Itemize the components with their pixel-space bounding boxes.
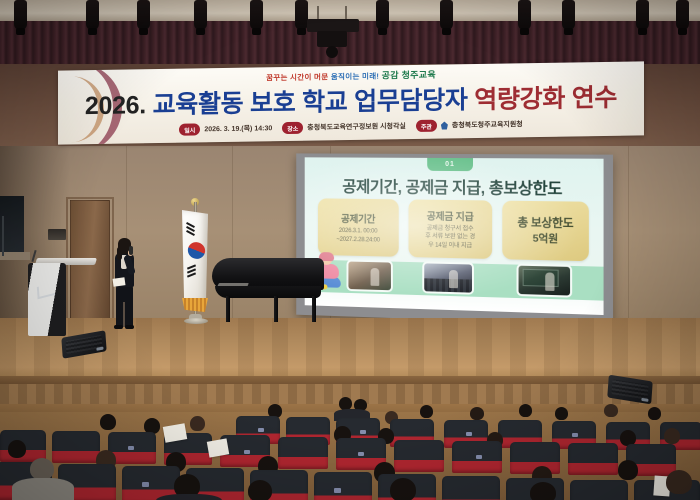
slide-card-group: 공제기간 2026.3.1. 00:00 ~2027.2.28.24:00 공제…	[318, 198, 589, 261]
ceiling-light-icon	[676, 0, 689, 30]
banner-meta-location: 장소 충청북도교육연구정보원 시청각실	[282, 120, 406, 134]
banner-meta-datetime: 일시 2026. 3. 19.(목) 14:30	[179, 122, 272, 135]
event-banner: 꿈꾸는 시간이 머문 움직이는 미래! 공감 청주교육 2026. 교육활동 보…	[58, 61, 644, 144]
slide-section-badge: 01	[427, 158, 473, 171]
lectern-logo-icon	[37, 283, 55, 300]
presenter	[112, 238, 138, 332]
card-body-line: ~2027.2.28.24:00	[336, 235, 379, 244]
ceiling-light-icon	[376, 0, 389, 30]
window-sill	[0, 252, 30, 260]
meta-chip-label: 주관	[416, 120, 437, 132]
wall-control-panel[interactable]	[48, 229, 66, 240]
banner-title-year: 2026.	[85, 91, 146, 120]
ceiling-light-icon	[562, 0, 575, 30]
lectern	[28, 258, 72, 338]
meta-value: 2026. 3. 19.(목) 14:30	[204, 123, 272, 134]
ceiling-light-icon	[440, 0, 453, 30]
banner-meta-organizer: 주관 충청북도청주교육지원청	[416, 118, 523, 132]
projection-screen: 01 공제기간, 공제금 지급, 총보상한도 공제기간 2026.3.1. 00…	[296, 153, 613, 325]
ceiling-light-icon	[250, 0, 263, 30]
korean-national-flag	[176, 198, 216, 332]
slide-photo-lecture-hall	[422, 261, 474, 294]
ceiling-light-icon	[86, 0, 99, 30]
card-heading: 공제기간	[341, 211, 375, 226]
control-window	[0, 196, 24, 258]
slogan-part1: 꿈꾸는 시간이 머문	[266, 72, 328, 82]
card-body-line: 5억원	[533, 232, 558, 247]
slide-photo-chalkboard	[517, 264, 573, 298]
presentation-slide: 01 공제기간, 공제금 지급, 총보상한도 공제기간 2026.3.1. 00…	[305, 157, 604, 315]
ceiling-projector-speaker-unit	[305, 6, 361, 58]
handout-paper	[207, 438, 229, 457]
meta-value: 충청북도청주교육지원청	[452, 119, 523, 130]
lectern-body	[28, 263, 66, 336]
mic-stand	[2, 216, 4, 256]
banner-title-main: 교육활동 보호 학교 업무담당자	[153, 86, 468, 119]
slide-title: 공제기간, 공제금 지급, 총보상한도	[305, 173, 604, 200]
slide-card-limit: 총 보상한도 5억원	[502, 201, 589, 262]
card-body-line: 우 14일 이내 지급	[428, 241, 472, 250]
card-heading: 총 보상한도	[517, 214, 573, 231]
card-heading: 공제금 지급	[427, 208, 474, 224]
ceiling-light-icon	[137, 0, 150, 30]
ceiling-light-icon	[194, 0, 207, 30]
grand-piano	[212, 256, 324, 328]
auditorium-photo: 꿈꾸는 시간이 머문 움직이는 미래! 공감 청주교육 2026. 교육활동 보…	[0, 0, 700, 500]
ceiling-light-icon	[636, 0, 649, 30]
meta-value: 충청북도교육연구정보원 시청각실	[307, 121, 406, 133]
slide-photo-classroom	[347, 260, 393, 293]
meta-chip-label: 장소	[282, 122, 303, 134]
slogan-part2: 움직이는 미래!	[331, 72, 379, 82]
handheld-microphone-icon	[129, 246, 133, 255]
slide-card-period: 공제기간 2026.3.1. 00:00 ~2027.2.28.24:00	[318, 198, 399, 256]
flag-fringe	[182, 298, 208, 312]
organization-emblem-icon	[441, 121, 448, 129]
ceiling-light-icon	[14, 0, 27, 30]
presenter-handout	[113, 277, 126, 287]
flag-stand-base	[184, 318, 208, 324]
banner-title-accent: 역량강화 연수	[474, 84, 617, 114]
meta-chip-label: 일시	[179, 123, 200, 135]
ceiling-light-icon	[518, 0, 531, 30]
slide-card-payment: 공제금 지급 공제금 청구서 접수 후 서류 보완 없는 경 우 14일 이내 …	[409, 199, 493, 258]
slogan-brand: 공감 청주교육	[382, 70, 436, 81]
